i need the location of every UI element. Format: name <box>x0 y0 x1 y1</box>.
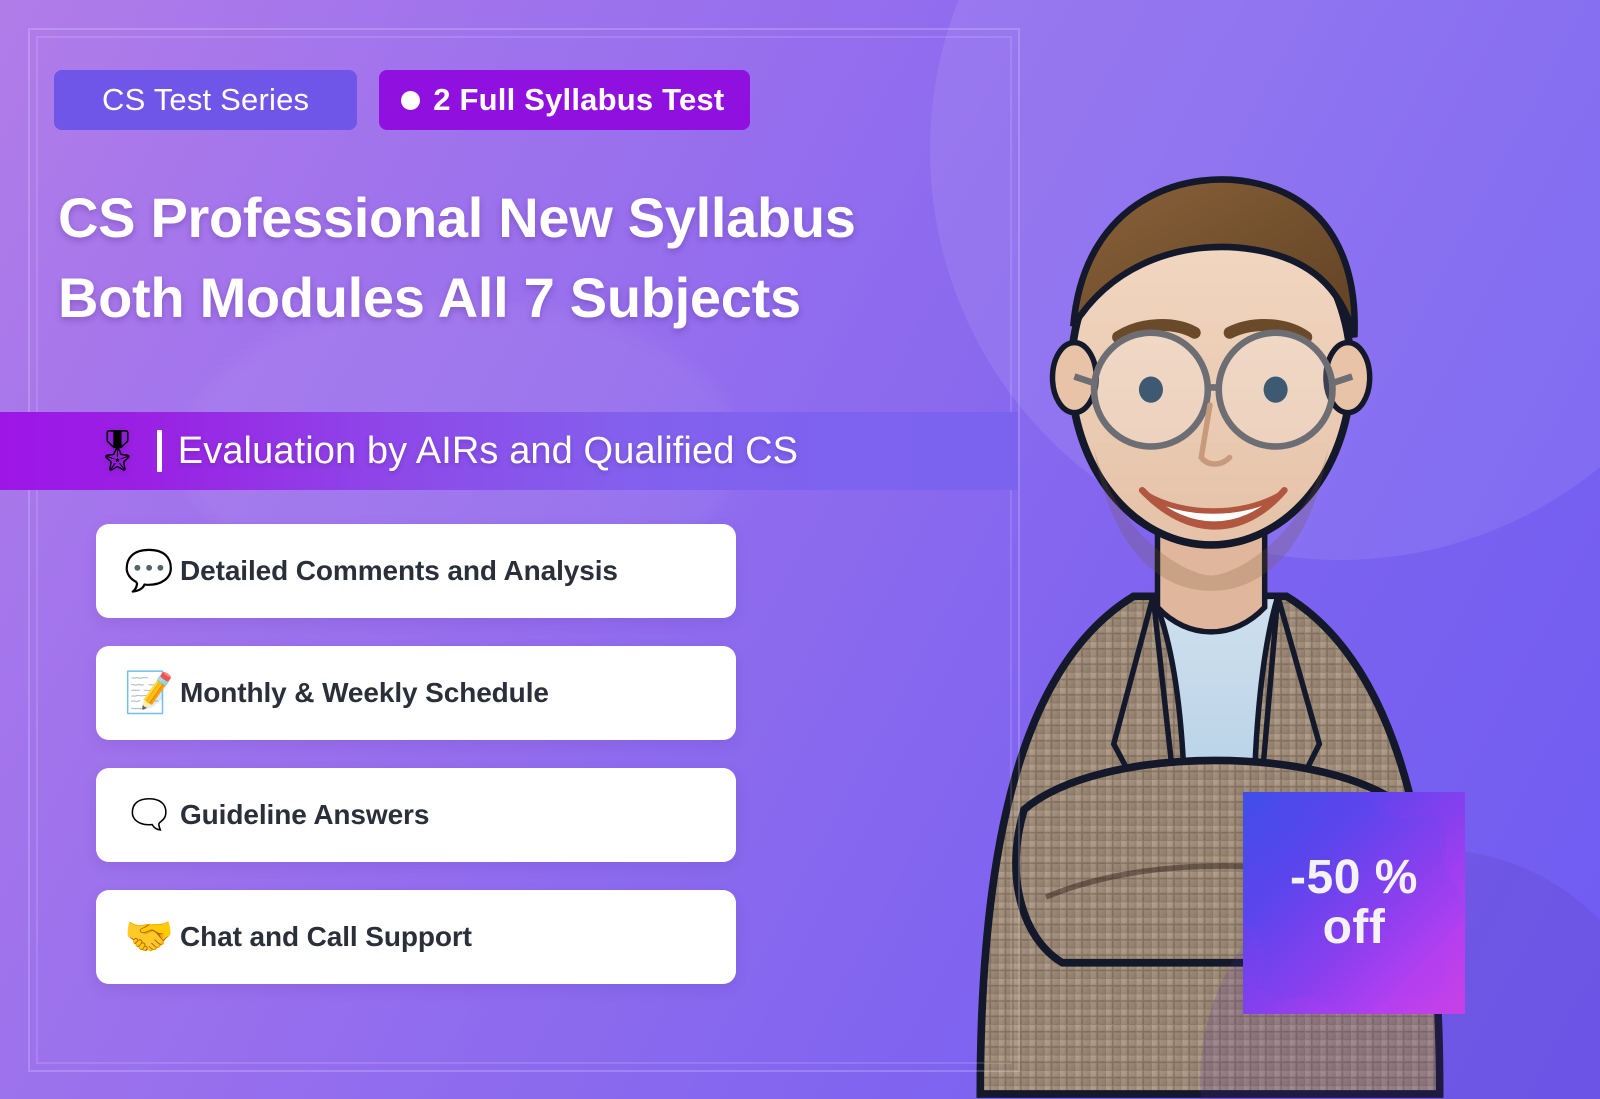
discount-badge[interactable]: -50 % off <box>1243 792 1465 1014</box>
evaluation-text: Evaluation by AIRs and Qualified CS <box>178 430 798 473</box>
tag-cs-test-series-label: CS Test Series <box>102 82 309 118</box>
medal-star-icon: 🎖 <box>92 431 143 471</box>
page-title: CS Professional New Syllabus Both Module… <box>58 178 978 338</box>
tag-cs-test-series[interactable]: CS Test Series <box>54 70 357 130</box>
list-item[interactable]: 🗨 Guideline Answers <box>96 768 736 862</box>
headline-line-2: Both Modules All 7 Subjects <box>58 258 978 338</box>
feature-card-list: 💬 Detailed Comments and Analysis 📝 Month… <box>96 524 736 1012</box>
discount-off-label: off <box>1323 903 1386 953</box>
tag-full-syllabus-test[interactable]: 2 Full Syllabus Test <box>379 70 750 130</box>
list-item[interactable]: 🤝 Chat and Call Support <box>96 890 736 984</box>
feature-label: Guideline Answers <box>180 799 429 831</box>
handshake-support-icon: 🤝 <box>118 917 180 957</box>
dot-icon <box>401 91 420 110</box>
feature-label: Monthly & Weekly Schedule <box>180 677 549 709</box>
clipboard-pencil-icon: 📝 <box>118 673 180 713</box>
evaluation-highlight-bar: 🎖 Evaluation by AIRs and Qualified CS <box>0 412 1018 490</box>
feature-label: Chat and Call Support <box>180 921 472 953</box>
headline-line-1: CS Professional New Syllabus <box>58 178 978 258</box>
speech-bubble-icon: 💬 <box>118 551 180 591</box>
feature-label: Detailed Comments and Analysis <box>180 555 618 587</box>
list-item[interactable]: 📝 Monthly & Weekly Schedule <box>96 646 736 740</box>
list-item[interactable]: 💬 Detailed Comments and Analysis <box>96 524 736 618</box>
content-column: CS Test Series 2 Full Syllabus Test CS P… <box>0 0 1020 1099</box>
promo-banner: CS Test Series 2 Full Syllabus Test CS P… <box>0 0 1600 1099</box>
question-answer-icon: 🗨 <box>118 795 180 835</box>
separator-bar <box>157 430 162 472</box>
tag-full-syllabus-test-label: 2 Full Syllabus Test <box>433 82 724 118</box>
discount-percent: -50 % <box>1290 853 1418 903</box>
tag-row: CS Test Series 2 Full Syllabus Test <box>54 70 750 130</box>
